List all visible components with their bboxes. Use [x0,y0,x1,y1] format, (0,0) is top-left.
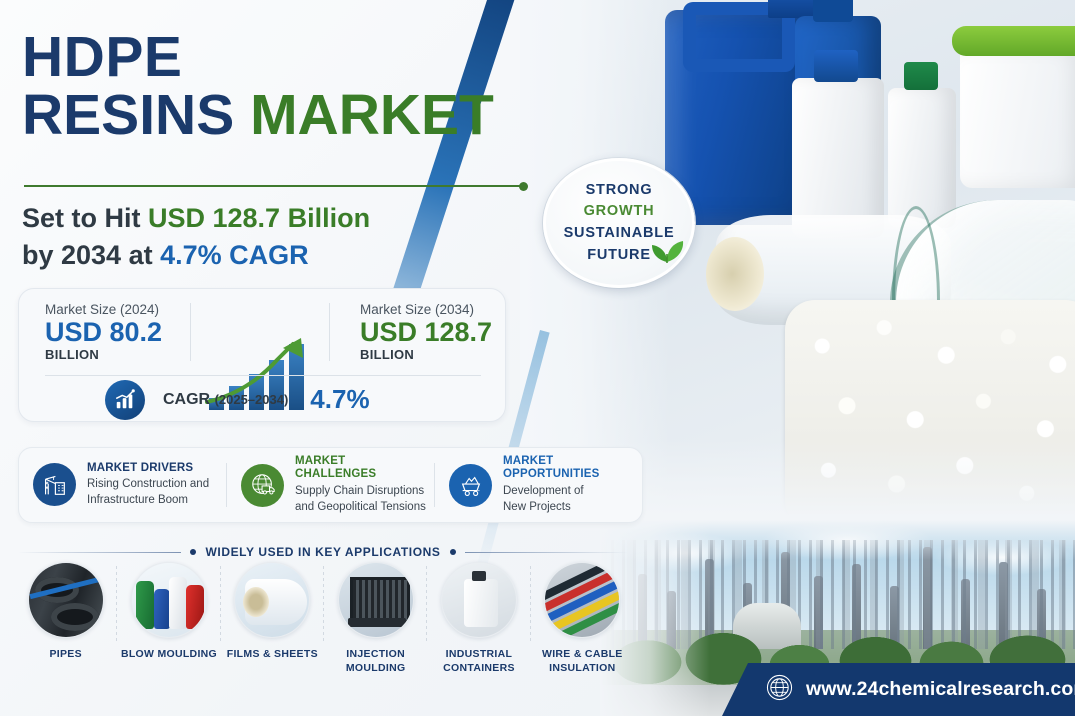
plastic-bottles-photo [131,562,207,638]
cagr-row: CAGR (2025–2034) 4.7% [19,376,505,423]
footer-bar: www.24chemicalresearch.com [722,663,1075,716]
market-challenges-text: MARKET CHALLENGES Supply Chain Disruptio… [295,455,426,516]
white-bottle-large [792,78,884,238]
divider-line-right [465,552,628,553]
market-challenges-title: MARKET CHALLENGES [295,455,426,483]
market-opportunities-line-2: New Projects [503,500,634,516]
leaf-icon [650,234,684,269]
website-url[interactable]: www.24chemicalresearch.com [806,678,1075,701]
application-item-blow-moulding[interactable]: BLOW MOULDING [117,562,220,687]
subtitle-prefix: Set to Hit [22,203,148,233]
market-drivers-card: MARKET DRIVERS Rising Construction and I… [19,462,226,509]
cagr-label: CAGR (2025–2034) [163,391,288,409]
market-opportunities-text: MARKET OPPORTUNITIES Development of New … [503,455,634,516]
divider-line-left [18,552,181,553]
market-drivers-line-1: Rising Construction and [87,477,209,493]
title-market: MARKET [250,83,494,147]
cagr-chart-icon [105,380,145,420]
subtitle-line2-prefix: by 2034 at [22,240,160,270]
application-label: INDUSTRIAL CONTAINERS [427,648,530,675]
applications-heading: WIDELY USED IN KEY APPLICATIONS [205,545,440,559]
market-challenges-card: MARKET CHALLENGES Supply Chain Disruptio… [227,455,434,516]
application-label: PIPES [49,648,81,662]
page-title: HDPE RESINS MARKET [22,28,494,144]
badge-line-2: GROWTH [584,201,655,223]
market-drivers-title: MARKET DRIVERS [87,462,209,476]
market-opportunities-card: MARKET OPPORTUNITIES Development of New … [435,455,642,516]
market-size-2024-unit: BILLION [45,347,190,362]
market-size-2034-unit: BILLION [360,347,505,362]
globe-icon [766,674,793,706]
subtitle-line-2: by 2034 at 4.7% CAGR [22,237,370,274]
divider-dot-right [450,549,456,555]
status-badge: STRONG GROWTH SUSTAINABLE FUTURE [543,158,695,288]
market-size-row: Market Size (2024) USD 80.2 BILLION [19,289,505,375]
hdpe-pipes-photo [28,562,104,638]
application-item-pipes[interactable]: PIPES [14,562,117,687]
white-tub-green-lid [960,48,1075,188]
underline-dot [519,182,528,191]
cagr-value: 4.7% [310,384,369,415]
title-resins: RESINS [22,83,250,147]
infographic-root: HDPE RESINS MARKET Set to Hit USD 128.7 … [0,0,1075,716]
market-drivers-line-2: Infrastructure Boom [87,493,209,509]
film-roll-photo [234,562,310,638]
cagr-period: (2025–2034) [215,392,289,407]
crate-pallet-photo [338,562,414,638]
market-size-2024-caption: Market Size (2024) [45,302,190,317]
globe-truck-icon [241,464,284,507]
title-line-1: HDPE [22,28,494,86]
application-item-films-sheets[interactable]: FILMS & SHEETS [221,562,324,687]
divider-left [190,303,191,361]
market-size-2034: Market Size (2034) USD 128.7 BILLION [330,302,505,361]
construction-crane-icon [33,463,76,506]
cagr-label-text: CAGR [163,391,215,408]
market-drivers-text: MARKET DRIVERS Rising Construction and I… [87,462,209,509]
market-challenges-line-2: and Geopolitical Tensions [295,500,426,516]
application-label: INJECTION MOULDING [324,648,427,675]
title-underline [24,185,524,187]
mining-cart-icon [449,464,492,507]
white-bottle-small [888,88,956,228]
market-size-2034-value: USD 128.7 [360,318,505,346]
subtitle-value: USD 128.7 Billion [148,203,370,233]
title-line-2: RESINS MARKET [22,86,494,144]
application-item-injection-moulding[interactable]: INJECTION MOULDING [324,562,427,687]
badge-line-4: FUTURE [587,245,651,267]
market-opportunities-line-1: Development of [503,484,634,500]
application-label: WIRE & CABLE INSULATION [531,648,634,675]
subtitle-line-1: Set to Hit USD 128.7 Billion [22,200,370,237]
market-opportunities-title: MARKET OPPORTUNITIES [503,455,634,483]
bar-chart-growth-icon [114,389,136,411]
left-content: HDPE RESINS MARKET Set to Hit USD 128.7 … [0,0,640,716]
application-label: FILMS & SHEETS [227,648,318,662]
subtitle: Set to Hit USD 128.7 Billion by 2034 at … [22,200,370,275]
market-size-2024-value: USD 80.2 [45,318,190,346]
cables-photo [544,562,620,638]
market-challenges-line-1: Supply Chain Disruptions [295,484,426,500]
application-label: BLOW MOULDING [121,648,217,662]
market-size-card: Market Size (2024) USD 80.2 BILLION [18,288,506,422]
refinery-top-fade [600,520,1075,560]
application-item-wire-cable-insulation[interactable]: WIRE & CABLE INSULATION [531,562,634,687]
market-size-2024: Market Size (2024) USD 80.2 BILLION [19,302,190,361]
market-factors-card: MARKET DRIVERS Rising Construction and I… [18,447,643,523]
application-item-industrial-containers[interactable]: INDUSTRIAL CONTAINERS [427,562,530,687]
applications-list: PIPES BLOW MOULDING FILMS & SHEETS INJEC… [14,562,634,687]
market-size-2034-caption: Market Size (2034) [360,302,505,317]
badge-line-1: STRONG [586,180,653,202]
subtitle-cagr: 4.7% CAGR [160,240,309,270]
applications-divider: WIDELY USED IN KEY APPLICATIONS [18,545,628,559]
jerrycan-photo [441,562,517,638]
divider-dot-left [190,549,196,555]
